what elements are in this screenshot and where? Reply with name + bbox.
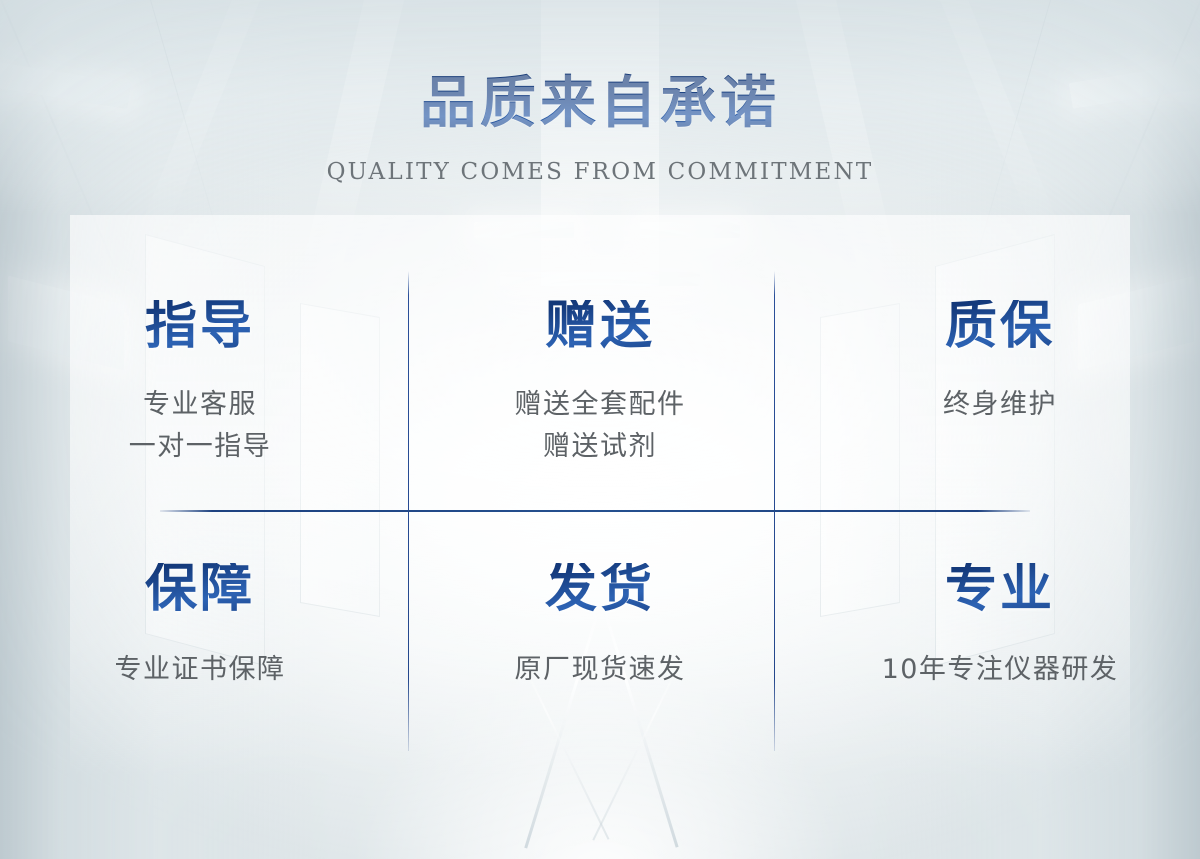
feature-cell-expertise: 专业 10年专注仪器研发 — [800, 511, 1200, 775]
feature-lines-gift: 赠送全套配件 赠送试剂 — [400, 384, 800, 468]
feature-line: 10年专注仪器研发 — [800, 649, 1200, 691]
feature-line: 原厂现货速发 — [400, 649, 800, 691]
feature-line: 赠送试剂 — [400, 426, 800, 468]
page-subtitle: QUALITY COMES FROM COMMITMENT — [0, 159, 1200, 185]
feature-cell-guidance: 指导 专业客服 一对一指导 — [0, 215, 400, 511]
feature-line: 一对一指导 — [0, 426, 400, 468]
feature-cell-assurance: 保障 专业证书保障 — [0, 511, 400, 775]
page-title: 品质来自承诺 — [0, 58, 1200, 139]
feature-cell-shipping: 发货 原厂现货速发 — [400, 511, 800, 775]
promo-banner: 品质来自承诺 QUALITY COMES FROM COMMITMENT 指导 … — [0, 0, 1200, 859]
feature-line: 终身维护 — [800, 384, 1200, 426]
feature-line: 专业证书保障 — [0, 649, 400, 691]
feature-heading-warranty: 质保 — [800, 300, 1200, 352]
feature-lines-shipping: 原厂现货速发 — [400, 649, 800, 691]
feature-line: 赠送全套配件 — [400, 384, 800, 426]
feature-heading-assurance: 保障 — [0, 563, 400, 615]
feature-lines-expertise: 10年专注仪器研发 — [800, 649, 1200, 691]
feature-heading-expertise: 专业 — [800, 563, 1200, 615]
feature-cell-warranty: 质保 终身维护 — [800, 215, 1200, 511]
feature-grid: 指导 专业客服 一对一指导 赠送 赠送全套配件 赠送试剂 质保 终身维护 保障 … — [0, 215, 1200, 775]
feature-lines-guidance: 专业客服 一对一指导 — [0, 384, 400, 468]
feature-line: 专业客服 — [0, 384, 400, 426]
feature-heading-gift: 赠送 — [400, 300, 800, 352]
feature-lines-assurance: 专业证书保障 — [0, 649, 400, 691]
feature-lines-warranty: 终身维护 — [800, 384, 1200, 426]
banner-header: 品质来自承诺 QUALITY COMES FROM COMMITMENT — [0, 0, 1200, 185]
feature-cell-gift: 赠送 赠送全套配件 赠送试剂 — [400, 215, 800, 511]
feature-heading-guidance: 指导 — [0, 300, 400, 352]
feature-heading-shipping: 发货 — [400, 563, 800, 615]
